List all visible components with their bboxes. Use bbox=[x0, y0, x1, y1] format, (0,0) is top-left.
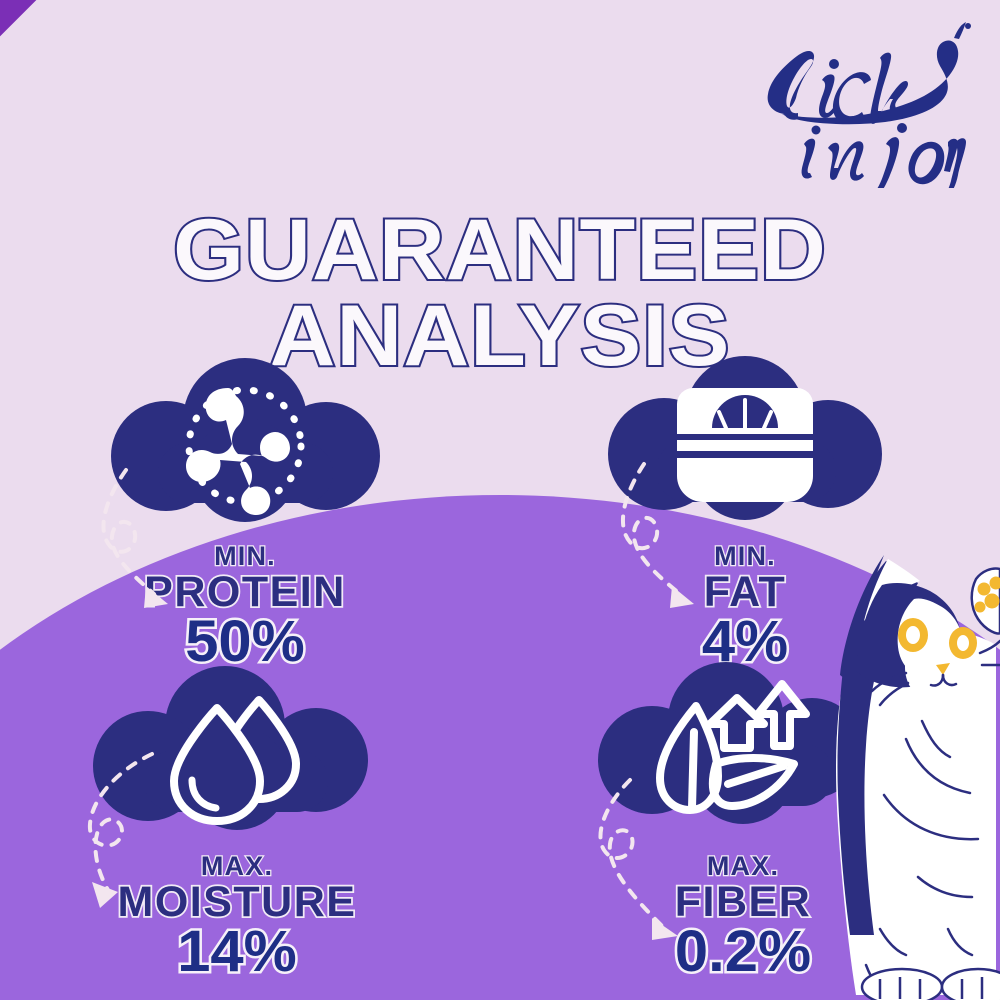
stat-value: 50% bbox=[75, 612, 415, 671]
cat-illustration bbox=[810, 525, 1000, 1000]
bone-icon bbox=[100, 358, 390, 533]
page-title: GUARANTEED ANALYSIS bbox=[0, 207, 1000, 379]
stat-value: 14% bbox=[67, 922, 407, 981]
water-droplet-icon bbox=[92, 668, 382, 843]
lick-in-joy-logo bbox=[752, 18, 982, 188]
weight-scale-icon bbox=[600, 358, 890, 533]
guaranteed-analysis-graphic: GUARANTEED ANALYSIS bbox=[0, 0, 1000, 1000]
stat-block-protein: MIN. PROTEIN 50% bbox=[80, 358, 410, 671]
stat-block-moisture: MAX. MOISTURE 14% bbox=[72, 668, 402, 981]
